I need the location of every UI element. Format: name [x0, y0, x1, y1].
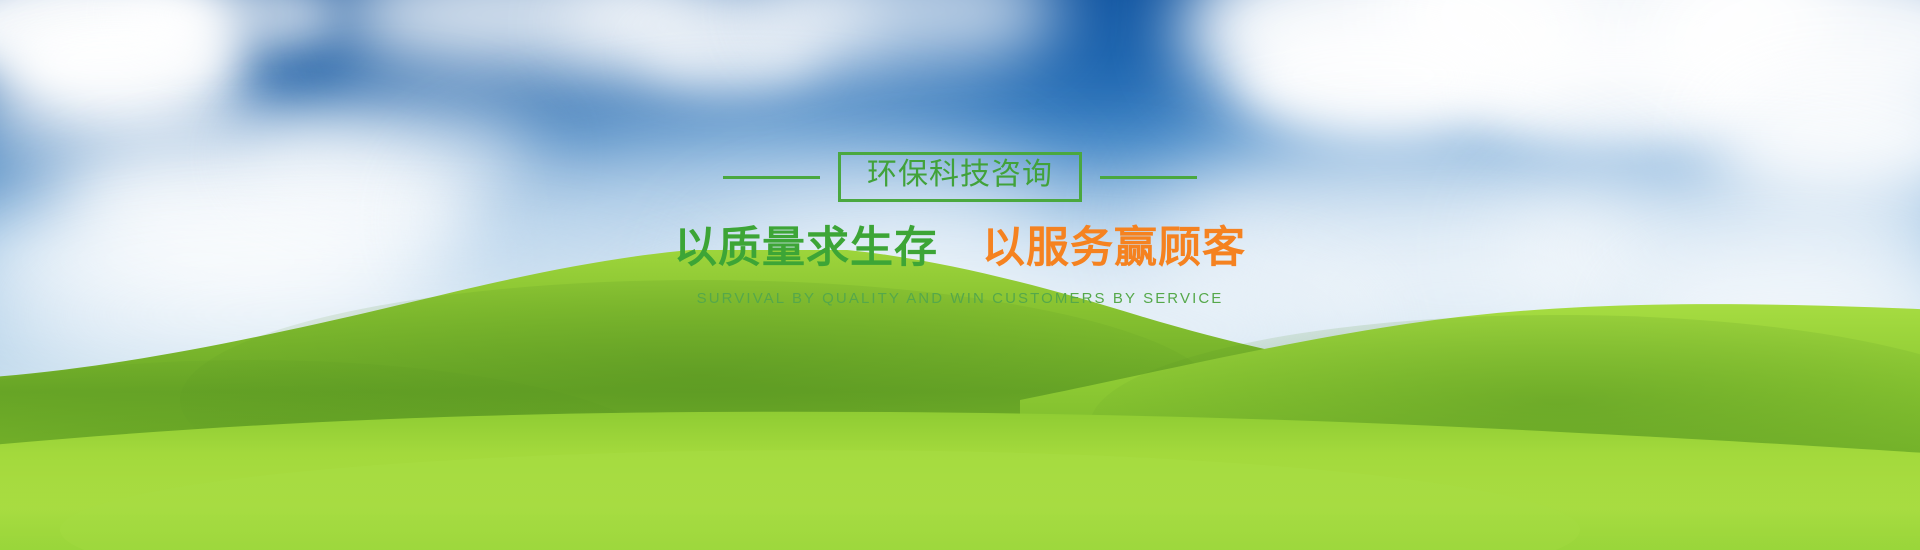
headline-subtitle: SURVIVAL BY QUALITY AND WIN CUSTOMERS BY… [697, 290, 1224, 307]
headline-secondary: 以服务赢顾客 [982, 224, 1246, 272]
hero-banner: 环保科技咨询 以质量求生存 以服务赢顾客 SURVIVAL BY QUALITY… [0, 0, 1920, 550]
eyebrow-title-box: 环保科技咨询 [838, 152, 1082, 202]
headline-primary: 以质量求生存 [674, 224, 938, 272]
cloud-shape [1240, 20, 1500, 130]
headline: 以质量求生存 以服务赢顾客 [674, 226, 1246, 271]
eyebrow-title: 环保科技咨询 [867, 158, 1053, 191]
rule-left-icon [723, 176, 820, 179]
rule-right-icon [1100, 176, 1197, 179]
eyebrow-title-row: 环保科技咨询 [723, 152, 1197, 202]
